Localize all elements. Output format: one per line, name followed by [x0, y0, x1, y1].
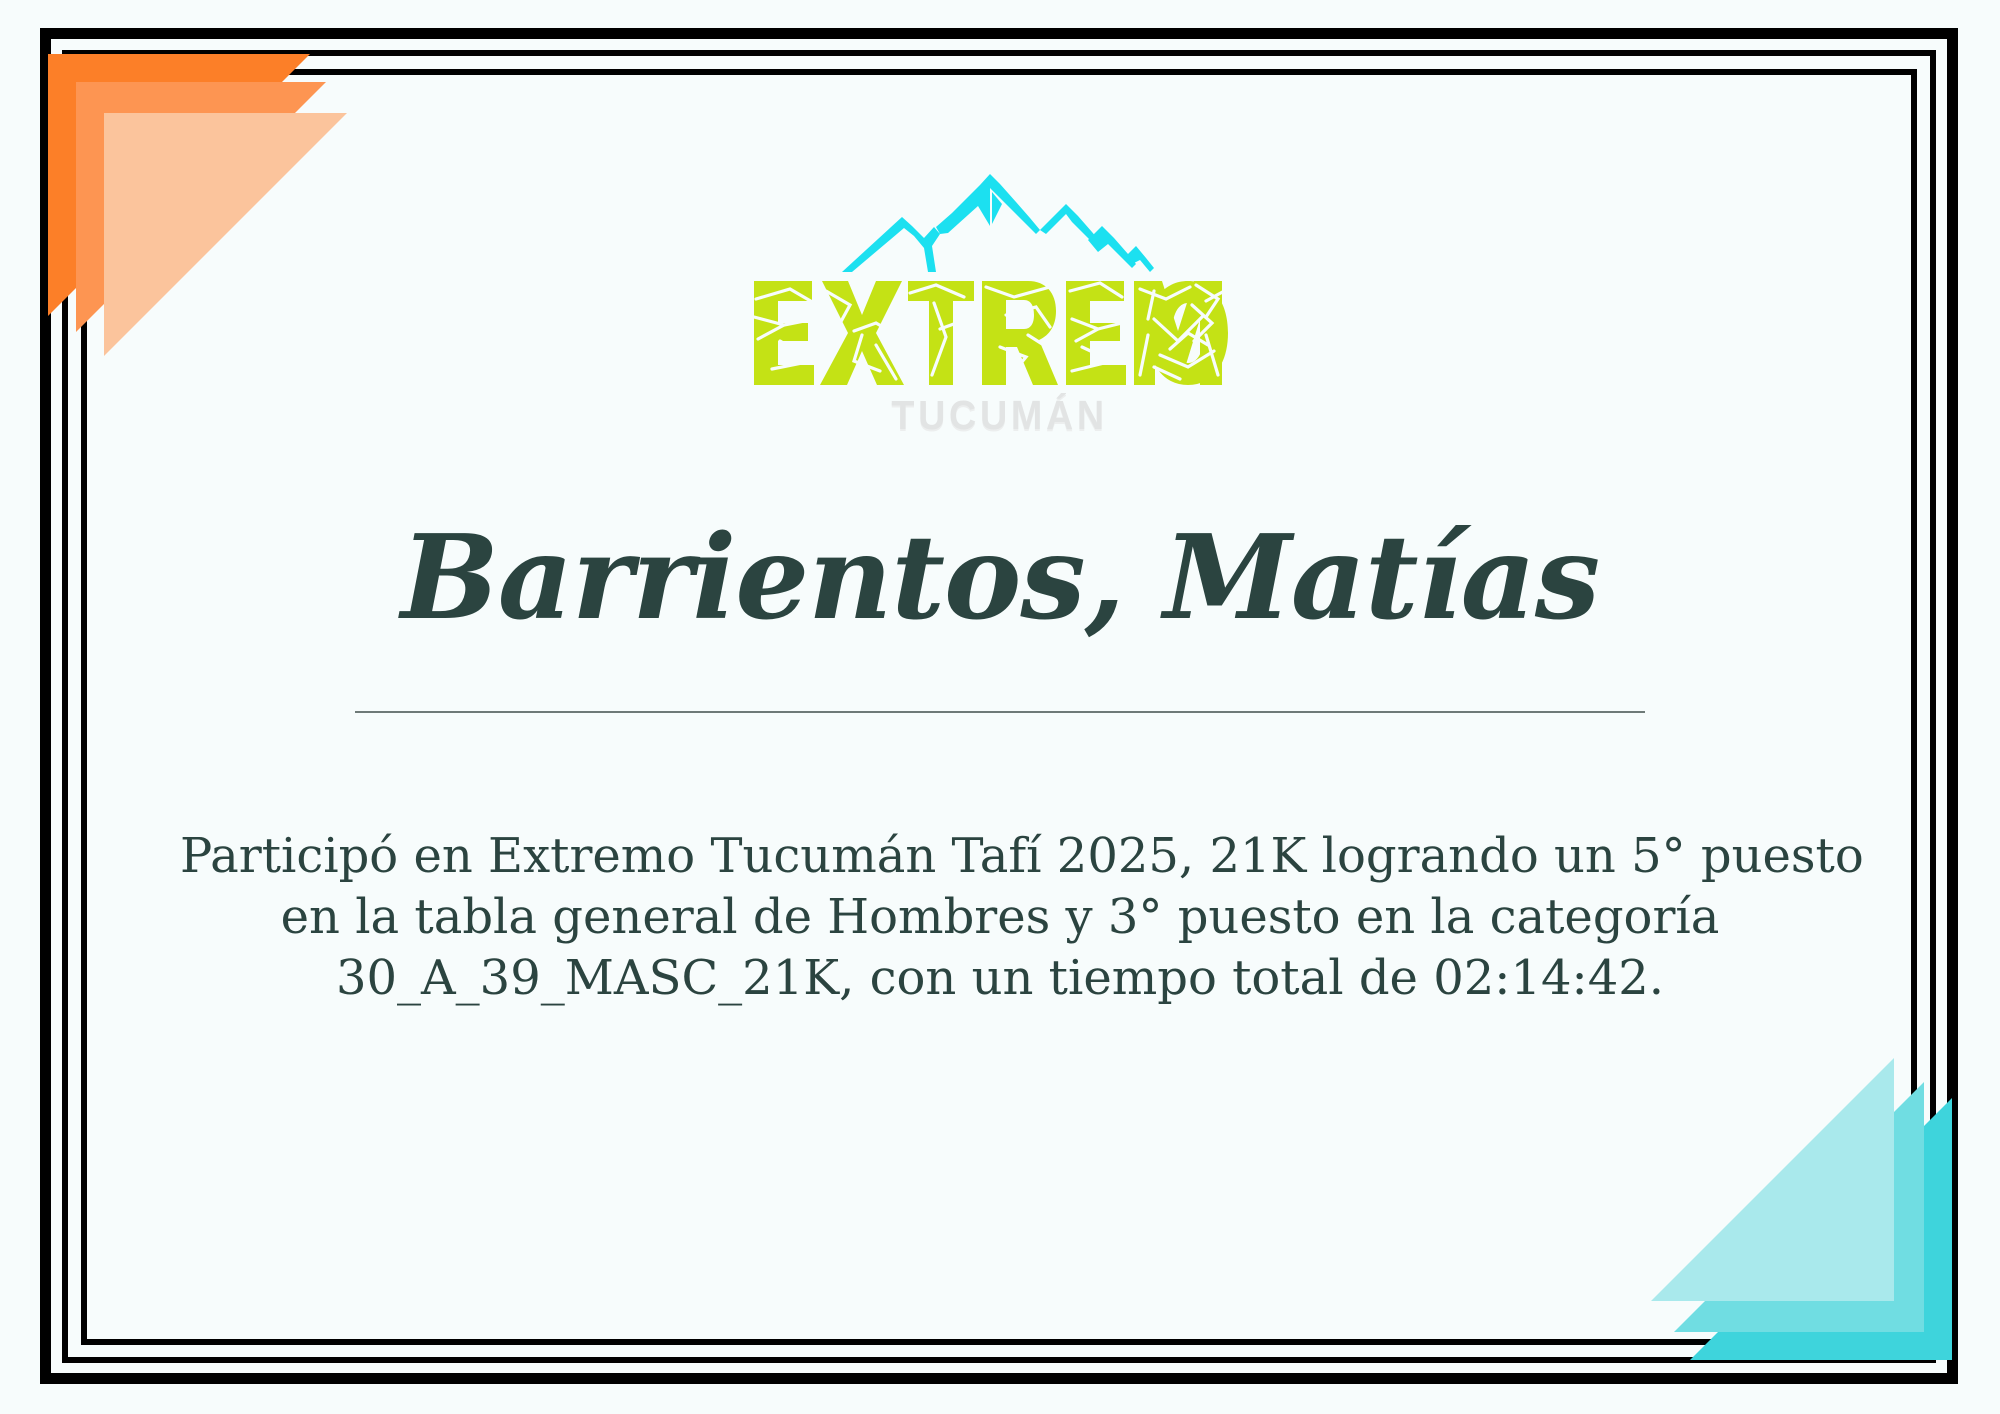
- recipient-name: Barrientos, Matías: [250, 518, 1750, 640]
- achievement-line-2: en la tabla general de Hombres y 3° pues…: [180, 887, 1820, 948]
- certificate-canvas: TUCUMÁN Barrientos, Matías Participó en …: [0, 0, 2000, 1414]
- corner-triangle-top-left-3: [104, 113, 347, 356]
- achievement-line-1: Participó en Extremo Tucumán Tafí 2025, …: [180, 826, 1820, 887]
- achievement-paragraph: Participó en Extremo Tucumán Tafí 2025, …: [180, 826, 1820, 1009]
- extremo-wordmark: [750, 275, 1250, 393]
- mountain-range-icon: [840, 168, 1160, 273]
- divider-rule: [355, 711, 1645, 713]
- logo-subtitle: TUCUMÁN: [892, 395, 1108, 436]
- event-logo: TUCUMÁN: [720, 168, 1280, 436]
- achievement-line-3: 30_A_39_MASC_21K, con un tiempo total de…: [180, 948, 1820, 1009]
- corner-triangle-bottom-right-3: [1651, 1058, 1894, 1301]
